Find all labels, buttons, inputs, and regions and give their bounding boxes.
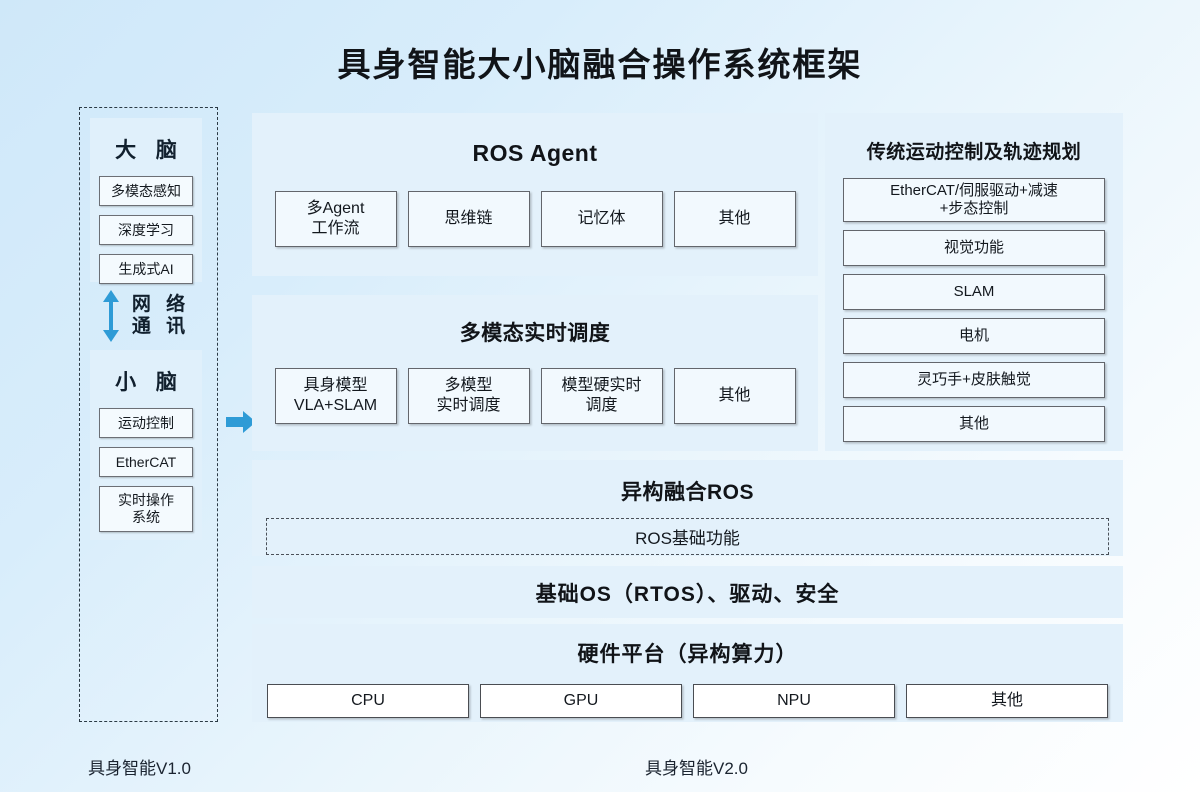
traditional-motion-control-items: EtherCAT/伺服驱动+减速 +步态控制 视觉功能 SLAM 电机 灵巧手+… <box>843 178 1105 442</box>
multimodal-item-hard-realtime-text: 模型硬实时 调度 <box>561 376 641 415</box>
multimodal-item-hard-realtime[interactable]: 模型硬实时 调度 <box>541 368 663 424</box>
ros-agent-item-multi-agent-workflow[interactable]: 多Agent 工作流 <box>275 191 397 247</box>
ros-agent-item-memory[interactable]: 记忆体 <box>541 191 663 247</box>
heterogeneous-ros-base-function[interactable]: ROS基础功能 <box>266 518 1109 555</box>
brain-item-deep-learning[interactable]: 深度学习 <box>99 215 193 245</box>
ros-agent-title: ROS Agent <box>252 140 818 167</box>
multimodal-item-embodied-model-text: 具身模型 VLA+SLAM <box>294 376 377 415</box>
cerebellum-title: 小 脑 <box>108 366 184 396</box>
base-os-title: 基础OS（RTOS）、驱动、安全 <box>252 566 1123 608</box>
hardware-platform-items: CPU GPU NPU 其他 <box>252 684 1123 718</box>
traditional-item-ethercat-servo[interactable]: EtherCAT/伺服驱动+减速 +步态控制 <box>843 178 1105 222</box>
hardware-platform-title: 硬件平台（异构算力） <box>252 624 1123 668</box>
heterogeneous-ros-title: 异构融合ROS <box>252 460 1123 506</box>
cerebellum-panel: 小 脑 运动控制 EtherCAT 实时操作 系统 <box>90 350 202 540</box>
heterogeneous-ros-panel: 异构融合ROS ROS基础功能 <box>252 460 1123 556</box>
traditional-item-ethercat-servo-text: EtherCAT/伺服驱动+减速 +步态控制 <box>890 182 1058 219</box>
traditional-item-slam[interactable]: SLAM <box>843 274 1105 310</box>
v1-column: 大 脑 多模态感知 深度学习 生成式AI 网 络 通 讯 小 脑 运动控制 Et… <box>90 118 202 711</box>
brain-panel: 大 脑 多模态感知 深度学习 生成式AI <box>90 118 202 282</box>
ros-agent-items: 多Agent 工作流 思维链 记忆体 其他 <box>252 191 818 247</box>
multimodal-item-embodied-model[interactable]: 具身模型 VLA+SLAM <box>275 368 397 424</box>
caption-v2: 具身智能V2.0 <box>645 754 748 779</box>
diagram-canvas: 具身智能大小脑融合操作系统框架 大 脑 多模态感知 深度学习 生成式AI 网 络… <box>0 0 1200 792</box>
traditional-motion-control-title: 传统运动控制及轨迹规划 <box>843 137 1105 164</box>
hardware-item-other[interactable]: 其他 <box>906 684 1108 718</box>
network-communication-label: 网 络 通 讯 <box>127 294 190 338</box>
hardware-platform-panel: 硬件平台（异构算力） CPU GPU NPU 其他 <box>252 624 1123 722</box>
network-communication-band: 网 络 通 讯 <box>90 282 202 350</box>
cerebellum-item-ethercat[interactable]: EtherCAT <box>99 447 193 477</box>
traditional-item-motor[interactable]: 电机 <box>843 318 1105 354</box>
cerebellum-item-rtos[interactable]: 实时操作 系统 <box>99 486 193 532</box>
multimodal-item-multi-model-realtime[interactable]: 多模型 实时调度 <box>408 368 530 424</box>
multimodal-scheduling-panel: 多模态实时调度 具身模型 VLA+SLAM 多模型 实时调度 模型硬实时 调度 <box>252 295 818 451</box>
network-line-2: 通 讯 <box>127 316 190 338</box>
network-line-1: 网 络 <box>127 294 190 316</box>
cerebellum-item-rtos-text: 实时操作 系统 <box>118 492 174 525</box>
multimodal-scheduling-items: 具身模型 VLA+SLAM 多模型 实时调度 模型硬实时 调度 其他 <box>252 368 818 424</box>
hardware-item-gpu[interactable]: GPU <box>480 684 682 718</box>
brain-item-multimodal-perception[interactable]: 多模态感知 <box>99 176 193 206</box>
ros-agent-item-multi-agent-workflow-text: 多Agent 工作流 <box>307 199 365 238</box>
hardware-item-npu[interactable]: NPU <box>693 684 895 718</box>
double-vertical-arrow-icon <box>102 290 120 342</box>
traditional-item-other[interactable]: 其他 <box>843 406 1105 442</box>
multimodal-item-other[interactable]: 其他 <box>674 368 796 424</box>
ros-agent-item-chain-of-thought[interactable]: 思维链 <box>408 191 530 247</box>
multimodal-item-multi-model-realtime-text: 多模型 实时调度 <box>436 376 500 415</box>
traditional-motion-control-panel: 传统运动控制及轨迹规划 EtherCAT/伺服驱动+减速 +步态控制 视觉功能 … <box>825 113 1123 451</box>
cerebellum-item-motion-control[interactable]: 运动控制 <box>99 408 193 438</box>
base-os-panel: 基础OS（RTOS）、驱动、安全 <box>252 566 1123 618</box>
brain-item-generative-ai[interactable]: 生成式AI <box>99 254 193 284</box>
ros-agent-panel: ROS Agent 多Agent 工作流 思维链 记忆体 其他 <box>252 113 818 276</box>
page-title: 具身智能大小脑融合操作系统框架 <box>0 38 1200 86</box>
ros-agent-item-other[interactable]: 其他 <box>674 191 796 247</box>
traditional-item-vision[interactable]: 视觉功能 <box>843 230 1105 266</box>
brain-title: 大 脑 <box>108 134 184 164</box>
multimodal-scheduling-title: 多模态实时调度 <box>252 317 818 347</box>
caption-v1: 具身智能V1.0 <box>88 754 191 779</box>
hardware-item-cpu[interactable]: CPU <box>267 684 469 718</box>
traditional-item-dexterous-hand[interactable]: 灵巧手+皮肤触觉 <box>843 362 1105 398</box>
